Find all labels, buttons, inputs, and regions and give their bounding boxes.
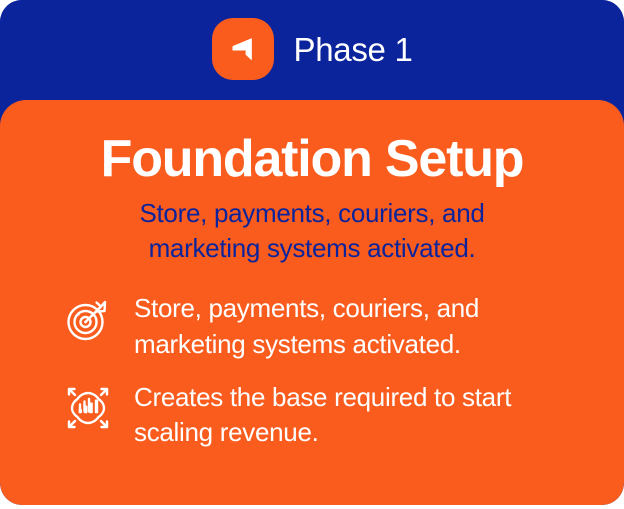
list-item: Creates the base required to start scali… xyxy=(62,380,584,451)
scaling-growth-chart-icon xyxy=(62,382,114,434)
target-arrow-icon xyxy=(62,293,114,345)
page-title: Foundation Setup xyxy=(34,132,590,186)
list-item-text: Creates the base required to start scali… xyxy=(134,380,584,451)
card-subtitle: Store, payments, couriers, and marketing… xyxy=(97,196,527,265)
list-item-text: Store, payments, couriers, and marketing… xyxy=(134,291,584,362)
phase-label: Phase 1 xyxy=(294,33,413,66)
arrow-up-right-icon xyxy=(212,18,274,80)
bullet-list: Store, payments, couriers, and marketing… xyxy=(34,291,590,450)
list-item: Store, payments, couriers, and marketing… xyxy=(62,291,584,362)
card-header: Phase 1 xyxy=(0,0,624,110)
phase-card: Phase 1 Foundation Setup Store, payments… xyxy=(0,0,624,505)
header-inner: Phase 1 xyxy=(212,18,413,80)
card-body: Foundation Setup Store, payments, courie… xyxy=(0,100,624,505)
